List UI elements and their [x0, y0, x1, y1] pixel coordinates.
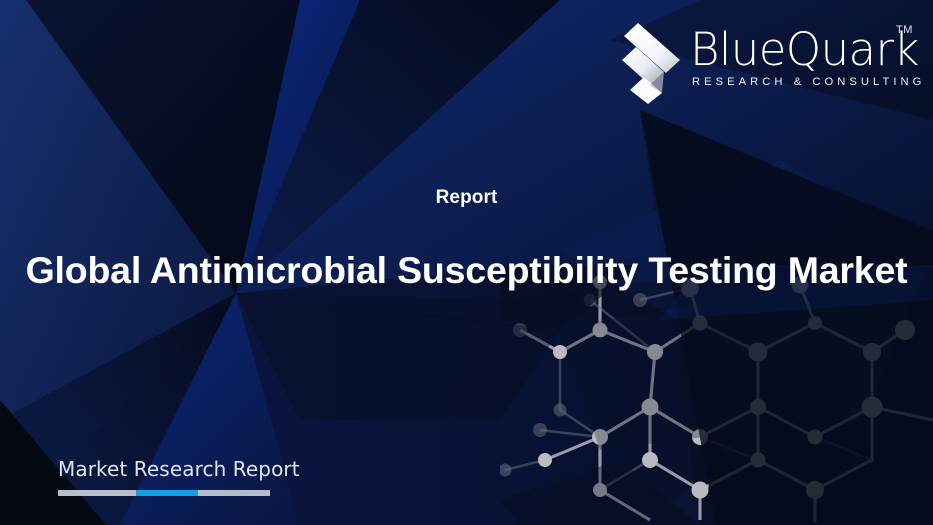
bluequark-chevron-mark — [618, 20, 690, 104]
report-kicker: Report — [0, 186, 933, 210]
brand-name: BlueQuark — [690, 26, 918, 74]
page-title: Global Antimicrobial Susceptibility Test… — [0, 247, 933, 293]
footer-bar-segment-accent — [136, 490, 198, 496]
brand-logo[interactable]: BlueQuark RESEARCH & CONSULTING TM — [612, 14, 912, 110]
report-cover: BlueQuark RESEARCH & CONSULTING TM Repor… — [0, 0, 933, 525]
brand-name-blue: Blue — [690, 23, 786, 76]
footer-bar-segment-right — [198, 490, 270, 496]
footer-bar-segment-left — [58, 490, 136, 496]
brand-tagline: RESEARCH & CONSULTING — [692, 75, 918, 89]
footer-label: Market Research Report — [58, 456, 300, 482]
brand-wordmark: BlueQuark RESEARCH & CONSULTING — [690, 26, 918, 89]
trademark-symbol: TM — [896, 24, 913, 36]
footer-accent-bar — [58, 490, 270, 496]
